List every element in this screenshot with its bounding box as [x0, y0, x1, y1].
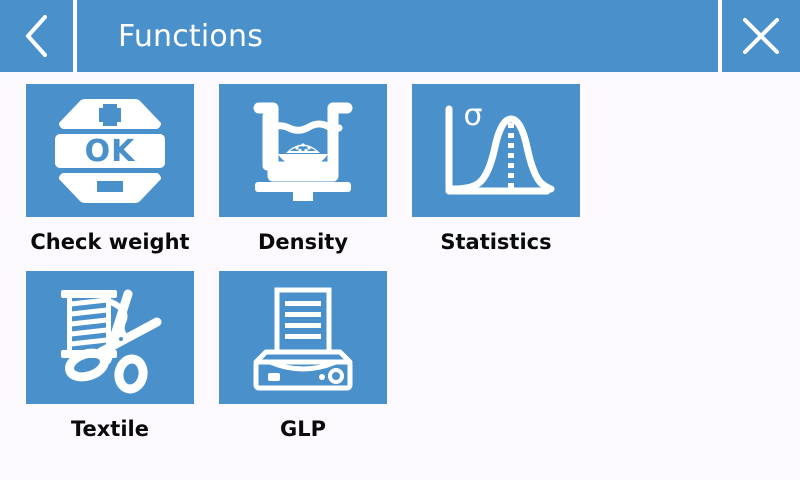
grid-cell: σ Statistics	[412, 84, 605, 255]
glp-printer-icon	[244, 284, 362, 392]
page-title: Functions	[118, 19, 263, 54]
function-tile-glp[interactable]	[219, 271, 387, 404]
functions-grid: OK Check weight	[26, 84, 786, 458]
function-tile-textile[interactable]	[26, 271, 194, 404]
close-x-icon	[739, 14, 783, 58]
statistics-icon: σ	[437, 97, 555, 205]
density-icon	[245, 96, 361, 206]
page-title-area: Functions	[77, 0, 718, 72]
grid-cell: OK Check weight	[26, 84, 219, 255]
function-label-statistics: Statistics	[412, 229, 580, 255]
function-label-check-weight: Check weight	[26, 229, 194, 255]
check-weight-icon: OK	[51, 95, 169, 207]
function-label-textile: Textile	[26, 416, 194, 442]
svg-text:OK: OK	[85, 134, 137, 169]
function-label-glp: GLP	[219, 416, 387, 442]
function-label-density: Density	[219, 229, 387, 255]
grid-cell: GLP	[219, 271, 412, 442]
back-button[interactable]	[0, 0, 73, 72]
function-tile-check-weight[interactable]: OK	[26, 84, 194, 217]
close-button[interactable]	[722, 0, 800, 72]
grid-cell: Textile	[26, 271, 219, 442]
chevron-left-icon	[22, 13, 52, 59]
grid-cell: Density	[219, 84, 412, 255]
textile-icon	[51, 282, 169, 394]
function-tile-statistics[interactable]: σ	[412, 84, 580, 217]
functions-screen: Functions OK	[0, 0, 800, 480]
svg-text:σ: σ	[463, 98, 482, 133]
title-bar: Functions	[0, 0, 800, 72]
function-tile-density[interactable]	[219, 84, 387, 217]
